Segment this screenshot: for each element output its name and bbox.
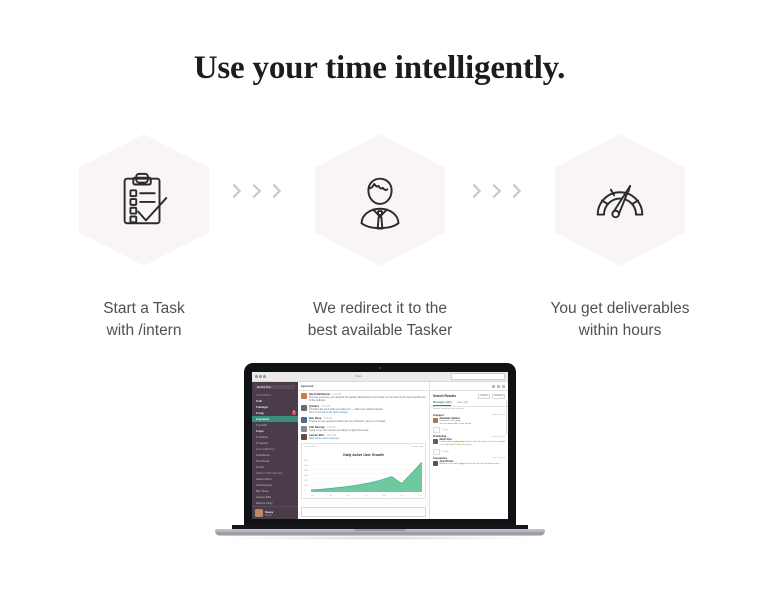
channel-name: # growth [256, 423, 267, 427]
channel-name: # frontend [256, 459, 269, 463]
search-result-body: Martin Riss I will need the deliverables… [440, 439, 506, 447]
message-composer-input[interactable] [301, 507, 426, 517]
tab-files[interactable]: Files (28) [457, 401, 467, 406]
search-group-channel: #operations [433, 457, 447, 460]
search-sort-buttons: Recent Relevant [478, 394, 505, 399]
avatar [301, 405, 307, 411]
window-traffic-lights[interactable] [255, 375, 266, 378]
dm-name: Carl Denney [256, 483, 272, 487]
y-tick: 0 [304, 490, 308, 492]
search-group-actions[interactable]: Jump Copy link [491, 414, 505, 416]
reply-count: 3 replies [442, 451, 450, 453]
sidebar-user-info: Kasey Online [265, 510, 273, 517]
chart-attachment-card: Lauren Ellis 2 weeks ago Daily Active Us… [301, 443, 426, 499]
chart-y-axis: 6000 5000 4000 3000 2000 1000 0 [304, 460, 308, 492]
search-result-body: Jared Brown Starting a task with /intern… [440, 461, 506, 466]
search-result-reply[interactable]: 1 reply [433, 427, 505, 433]
y-tick: 5000 [304, 465, 308, 467]
search-result-reply[interactable]: 3 replies [433, 449, 505, 455]
result-text-part: Starting a task with [440, 463, 458, 465]
laptop-trackpad-notch [354, 529, 406, 531]
message-body: Lauren Ellis 10:02 AM daily-active-users… [309, 434, 426, 440]
channel-name: # support [256, 441, 268, 445]
channel-name: # backend [256, 453, 269, 457]
chevron-right-icon [508, 183, 519, 202]
laptop-screen: Slack Acme Inc. CHANNELS # all # design … [252, 372, 508, 519]
search-group-header: #marketing Jump Copy link [433, 435, 505, 438]
y-tick: 6000 [304, 460, 308, 462]
sort-relevant-button[interactable]: Relevant [492, 394, 505, 399]
message-link[interactable]: Here is the link to the deck revision [309, 411, 426, 414]
window-search-input[interactable] [451, 373, 505, 380]
message-text: Morning everyone, just dropped the weekl… [309, 396, 426, 403]
x-tick: May [347, 495, 350, 497]
avatar [301, 434, 307, 440]
x-tick: Jul [365, 495, 367, 497]
result-text-part: I will need the [440, 441, 453, 443]
step-3-caption: You get deliverables within hours [520, 298, 720, 342]
sort-recent-button[interactable]: Recent [478, 394, 490, 399]
step-1-caption: Start a Task with /intern [44, 298, 244, 342]
webcam-icon [379, 367, 381, 369]
search-result-group: #support Jump Copy link Alexander Jenkin… [433, 414, 505, 434]
chart-card-header: Lauren Ellis 2 weeks ago [304, 446, 423, 448]
search-result-item: Jared Brown Starting a task with /intern… [433, 461, 505, 466]
message-body: Ben Rose 9:33 AM Thanks for any question… [309, 417, 426, 423]
more-icon[interactable] [502, 385, 505, 388]
message-item: Sarah McKinnon 9:14 AM Morning everyone,… [301, 393, 426, 403]
chart-meta-right: 2 weeks ago [411, 446, 423, 448]
channel-title: #general [301, 384, 313, 388]
search-group-channel: #marketing [433, 435, 446, 438]
channel-name: # eng [256, 411, 264, 415]
avatar [301, 417, 307, 423]
search-result-item: Martin Riss I will need the deliverables… [433, 439, 505, 447]
step-3-line1: You get deliverables [550, 300, 689, 317]
message-item: Ben Rose 9:33 AM Thanks for any question… [301, 417, 426, 423]
step-3-line2: within hours [520, 320, 720, 342]
minimize-icon[interactable] [259, 375, 262, 378]
search-title-row: Search Results Recent Relevant [430, 391, 508, 401]
search-highlight: deliverables [454, 441, 466, 443]
info-icon[interactable] [497, 385, 500, 388]
result-text-part: now so we can see the turnaround. [465, 463, 499, 465]
team-switcher[interactable]: Acme Inc. [255, 385, 295, 389]
close-icon[interactable] [255, 375, 258, 378]
step-2-caption: We redirect it to the best available Tas… [280, 298, 480, 342]
search-group-actions[interactable]: Jump Copy link [491, 457, 505, 459]
search-panel-header [430, 382, 508, 391]
step-3-hexagon [555, 134, 685, 266]
step-1-hexagon [79, 134, 209, 266]
x-tick: Sep [382, 495, 385, 497]
step-separator-2 [468, 183, 519, 202]
window-chrome: Slack [252, 372, 508, 382]
sidebar-user[interactable]: Kasey Online [252, 506, 298, 519]
y-tick: 2000 [304, 480, 308, 482]
search-group-header: #support Jump Copy link [433, 414, 505, 417]
message-item: Carl Denney 9:48 AM Good to see the numb… [301, 426, 426, 432]
message-text: Thanks for any questions about the user … [309, 420, 426, 423]
search-result-text: I will need the deliverables by the end … [440, 441, 506, 447]
unread-badge: 9 [292, 411, 296, 414]
channel-name: # random [256, 435, 268, 439]
x-tick: Dec [419, 495, 422, 497]
laptop-base [215, 525, 545, 537]
avatar [433, 418, 438, 423]
y-tick: 4000 [304, 470, 308, 472]
clipboard-checklist-icon [113, 169, 175, 231]
chart-meta-left: Lauren Ellis [304, 446, 315, 448]
step-separator-1 [228, 183, 279, 202]
channel-name: # infra [256, 465, 264, 469]
search-group-header: #operations Jump Copy link [433, 457, 505, 460]
team-name: Acme Inc. [257, 385, 272, 389]
area-chart-svg [311, 460, 422, 492]
user-name: Kasey [265, 510, 273, 514]
dm-name: Sarah Chen [256, 477, 271, 481]
chart-title: Daily Active User Growth [302, 453, 425, 457]
laptop-mockup: Slack Acme Inc. CHANNELS # all # design … [215, 363, 545, 563]
avatar [255, 509, 263, 517]
x-tick: Jan [311, 495, 314, 497]
search-result-body: Alexander Jenkins Uploaded a file. inter… [440, 418, 506, 426]
step-start-a-task: Start a Task with /intern [44, 130, 244, 342]
avatar [301, 393, 307, 399]
user-status: Online [265, 514, 273, 517]
slack-sidebar: Acme Inc. CHANNELS # all # design # eng … [252, 382, 298, 519]
businessman-icon [349, 169, 411, 231]
message-body: @intern 9:21 AM I finished the deck draf… [309, 405, 426, 415]
dm-name: Ben Rose [256, 489, 269, 493]
step-1-line1: Start a Task [103, 300, 185, 317]
speedometer-icon [589, 169, 651, 231]
channel-header: #general [298, 382, 429, 391]
step-get-deliverables: You get deliverables within hours [520, 130, 720, 342]
avatar [433, 461, 438, 466]
message-item: Lauren Ellis 10:02 AM daily-active-users… [301, 434, 426, 440]
search-results-panel: Search Results Recent Relevant Messages … [430, 382, 508, 519]
message-item: @intern 9:21 AM I finished the deck draf… [301, 405, 426, 415]
y-tick: 3000 [304, 475, 308, 477]
laptop-lid: Slack Acme Inc. CHANNELS # all # design … [244, 363, 516, 528]
tab-messages[interactable]: Messages (417) [433, 401, 451, 406]
y-tick: 1000 [304, 485, 308, 487]
step-2-hexagon [315, 134, 445, 266]
chevron-right-icon [468, 183, 479, 202]
avatar [301, 426, 307, 432]
step-2-line2: best available Tasker [280, 320, 480, 342]
search-highlight: intern [455, 420, 460, 422]
page-title: Use your time intelligently. [0, 48, 759, 88]
step-redirect-to-tasker: We redirect it to the best available Tas… [280, 130, 480, 342]
channel-name: # design [256, 405, 268, 409]
chart-plot-area [311, 460, 422, 492]
star-icon[interactable] [492, 385, 495, 388]
reply-count: 1 reply [442, 429, 448, 431]
step-1-line2: with /intern [44, 320, 244, 342]
search-results-title: Search Results [433, 394, 456, 398]
message-list[interactable]: Sarah McKinnon 9:14 AM Morning everyone,… [298, 391, 429, 507]
avatar [433, 439, 438, 444]
chevron-right-icon [488, 183, 499, 202]
result-text-part: Uploaded a file. [440, 420, 455, 422]
chevron-right-icon [228, 183, 239, 202]
search-highlight: /intern [459, 463, 465, 465]
reply-thumb [433, 449, 440, 455]
channel-name: # all [256, 399, 262, 403]
search-result-group: #operations Jump Copy link Jared Brown S… [433, 457, 505, 466]
slack-app: Acme Inc. CHANNELS # all # design # eng … [252, 382, 508, 519]
dm-name: Marcus Gray [256, 501, 273, 505]
channel-name: # ops [256, 429, 264, 433]
message-link[interactable]: daily-active-users-may.png [309, 437, 426, 440]
chevron-right-icon [248, 183, 259, 202]
search-result-link[interactable]: See the deliverable in the thread [440, 423, 506, 426]
search-group-channel: #support [433, 414, 444, 417]
slack-message-column: #general Sarah McKinnon 9:14 AM Morning … [298, 382, 430, 519]
search-result-item: Alexander Jenkins Uploaded a file. inter… [433, 418, 505, 426]
step-2-line1: We redirect it to the [313, 300, 447, 317]
message-text: Good to see the numbers trending up agai… [309, 429, 426, 432]
chart-x-axis: Jan Mar May Jul Sep Nov Dec [311, 495, 422, 497]
x-tick: Mar [329, 495, 332, 497]
search-result-group: #marketing Jump Copy link Martin Riss I … [433, 435, 505, 455]
window-title: Slack [266, 375, 451, 378]
channel-name: # general [256, 417, 269, 421]
message-body: Sarah McKinnon 9:14 AM Morning everyone,… [309, 393, 426, 403]
message-body: Carl Denney 9:48 AM Good to see the numb… [309, 426, 426, 432]
search-group-actions[interactable]: Jump Copy link [491, 436, 505, 438]
search-result-text: Starting a task with /intern now so we c… [440, 463, 506, 466]
search-results-list[interactable]: #support Jump Copy link Alexander Jenkin… [430, 412, 508, 519]
steps-row: Start a Task with /intern We redirect it… [0, 130, 759, 340]
reply-thumb [433, 427, 440, 433]
chevron-right-icon [268, 183, 279, 202]
x-tick: Nov [401, 495, 404, 497]
dm-name: Lauren Ellis [256, 495, 271, 499]
laptop-shadow [221, 536, 539, 540]
